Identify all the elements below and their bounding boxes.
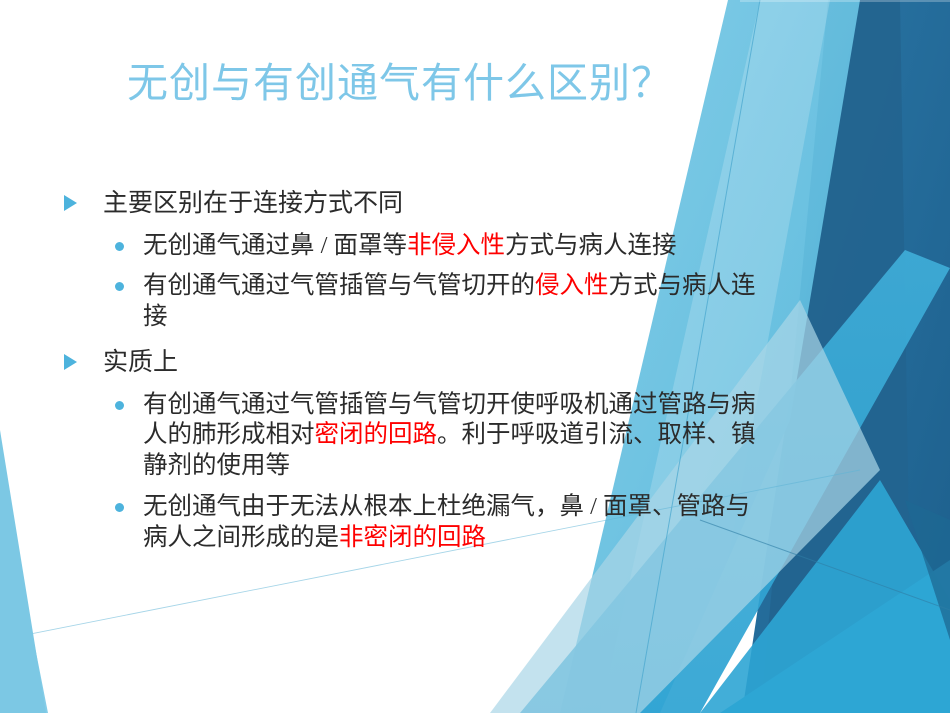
dot-bullet-icon: [115, 401, 124, 410]
content-body: 主要区别在于连接方式不同 无创通气通过鼻 / 面罩等非侵入性方式与病人连接 有创…: [58, 188, 758, 554]
list-item-level2: 有创通气通过气管插管与气管切开的侵入性方式与病人连接: [58, 271, 758, 333]
bullet-text-run: 方式与病人连接: [505, 232, 677, 259]
shape-cyan-bottom-right: [720, 560, 950, 713]
bullet-text: 主要区别在于连接方式不同: [103, 190, 403, 217]
group-spacer: [58, 333, 758, 347]
dot-bullet-icon: [115, 242, 124, 251]
list-item-level2: 无创通气由于无法从根本上杜绝漏气，鼻 / 面罩、管路与病人之间形成的是非密闭的回…: [58, 492, 758, 554]
shape-dark-upper: [760, 0, 912, 713]
bullet-text-highlight: 侵入性: [535, 272, 609, 299]
shape-left-triangle: [0, 432, 48, 713]
bullet-text-run: 无创通气通过鼻 / 面罩等: [143, 232, 407, 259]
slide: 无创与有创通气有什么区别？ 主要区别在于连接方式不同 无创通气通过鼻 / 面罩等…: [0, 0, 950, 713]
shape-left-triangle-main: [0, 430, 46, 713]
shape-dark-right-column: [742, 0, 950, 713]
triangle-bullet-icon: [64, 354, 77, 370]
bullet-text-run: 有创通气通过气管插管与气管切开的: [143, 272, 535, 299]
dot-bullet-icon: [115, 282, 124, 291]
shape-deep-accent: [905, 500, 950, 640]
list-item-level2: 有创通气通过气管插管与气管切开使呼吸机通过管路与病人的肺形成相对密闭的回路。利于…: [58, 390, 758, 483]
triangle-bullet-icon: [64, 195, 77, 211]
list-item-level2: 无创通气通过鼻 / 面罩等非侵入性方式与病人连接: [58, 231, 758, 262]
shape-top-edge: [740, 0, 950, 2]
list-item-level1: 主要区别在于连接方式不同: [58, 188, 758, 221]
list-item-level1: 实质上: [58, 347, 758, 380]
bullet-text-highlight: 非密闭的回路: [339, 524, 486, 551]
page-title: 无创与有创通气有什么区别？: [70, 60, 730, 107]
bullet-text-highlight: 密闭的回路: [315, 421, 438, 448]
dot-bullet-icon: [115, 503, 124, 512]
bullet-text: 实质上: [103, 349, 178, 376]
bullet-text-highlight: 非侵入性: [407, 232, 505, 259]
